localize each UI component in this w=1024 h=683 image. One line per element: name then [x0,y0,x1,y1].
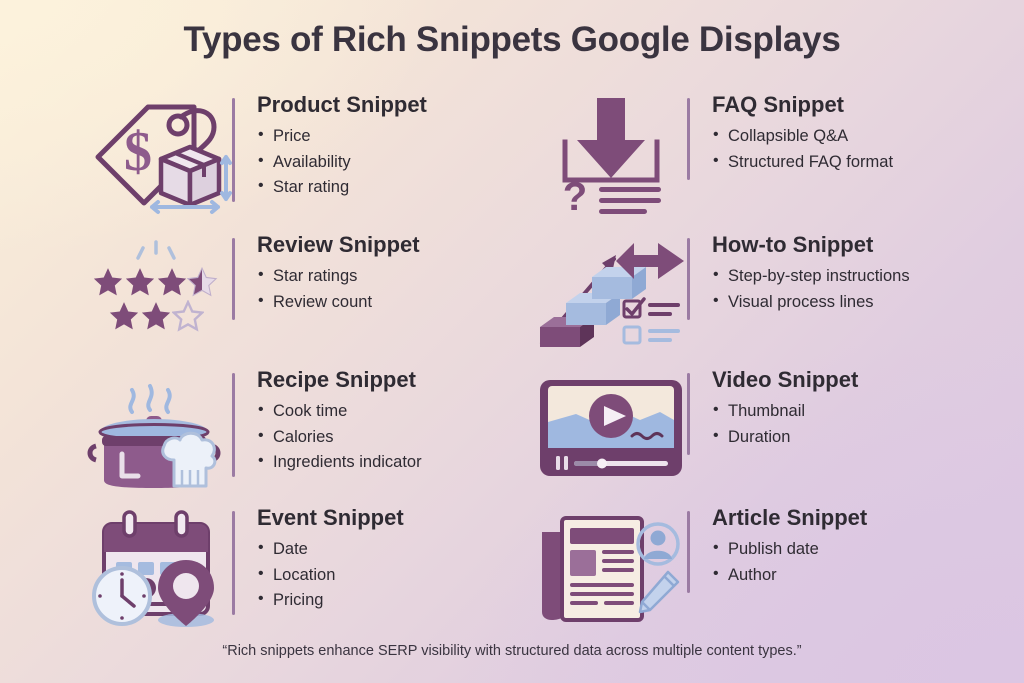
list-item: Author [712,563,867,589]
star-rating-icon [80,232,232,357]
price-tag-box-icon: $ [80,92,232,217]
snippet-heading: Recipe Snippet [257,367,422,392]
stairs-arrow-checklist-icon [535,232,687,357]
snippet-item-article: Article Snippet Publish date Author [535,505,1005,637]
snippet-bullets: Publish date Author [712,537,867,588]
snippet-heading: How-to Snippet [712,232,910,257]
cooking-pot-chef-hat-icon [80,367,232,492]
snippet-heading: Event Snippet [257,505,404,530]
item-divider [687,238,690,320]
list-item: Duration [712,425,858,451]
snippet-item-event: Event Snippet Date Location Pricing [80,505,550,637]
snippet-item-product: $ Product Snippet Price Availability [80,92,550,224]
list-item: Date [257,537,404,563]
calendar-clock-pin-icon [80,505,232,630]
left-column: $ Product Snippet Price Availability [80,92,550,632]
item-divider [687,373,690,455]
item-divider [232,98,235,202]
snippet-bullets: Date Location Pricing [257,537,404,614]
snippet-text-article: Article Snippet Publish date Author [712,505,867,588]
snippet-bullets: Collapsible Q&A Structured FAQ format [712,124,893,175]
snippet-bullets: Cook time Calories Ingredients indicator [257,399,422,476]
item-divider [232,373,235,477]
snippet-item-howto: How-to Snippet Step-by-step instructions… [535,232,1005,364]
svg-text:$: $ [124,121,152,183]
list-item: Step-by-step instructions [712,264,910,290]
list-item: Review count [257,290,420,316]
snippet-bullets: Thumbnail Duration [712,399,858,450]
page-title: Types of Rich Snippets Google Displays [0,20,1024,60]
list-item: Price [257,124,427,150]
snippet-item-recipe: Recipe Snippet Cook time Calories Ingred… [80,367,550,499]
item-divider [687,98,690,180]
snippet-item-review: Review Snippet Star ratings Review count [80,232,550,364]
list-item: Location [257,563,404,589]
list-item: Publish date [712,537,867,563]
snippet-text-howto: How-to Snippet Step-by-step instructions… [712,232,910,315]
list-item: Star ratings [257,264,420,290]
snippet-heading: Review Snippet [257,232,420,257]
snippet-text-product: Product Snippet Price Availability Star … [257,92,427,201]
list-item: Availability [257,150,427,176]
snippet-heading: Article Snippet [712,505,867,530]
svg-text:?: ? [563,175,587,219]
list-item: Ingredients indicator [257,450,422,476]
list-item: Pricing [257,588,404,614]
snippet-grid: $ Product Snippet Price Availability [0,92,1024,632]
list-item: Visual process lines [712,290,910,316]
snippet-bullets: Star ratings Review count [257,264,420,315]
list-item: Calories [257,425,422,451]
list-item: Star rating [257,175,427,201]
collapse-arrow-question-icon: ? [535,92,687,217]
snippet-text-event: Event Snippet Date Location Pricing [257,505,404,614]
snippet-text-video: Video Snippet Thumbnail Duration [712,367,858,450]
snippet-item-faq: ? FAQ Snippet Collapsible Q&A Structured… [535,92,1005,224]
snippet-heading: FAQ Snippet [712,92,893,117]
snippet-item-video: Video Snippet Thumbnail Duration [535,367,1005,499]
video-player-icon [535,367,687,492]
item-divider [232,238,235,320]
infographic-canvas: Types of Rich Snippets Google Displays $ [0,0,1024,683]
snippet-heading: Video Snippet [712,367,858,392]
snippet-bullets: Price Availability Star rating [257,124,427,201]
snippet-text-faq: FAQ Snippet Collapsible Q&A Structured F… [712,92,893,175]
newspaper-author-pencil-icon [535,505,687,630]
item-divider [232,511,235,615]
snippet-text-review: Review Snippet Star ratings Review count [257,232,420,315]
snippet-bullets: Step-by-step instructions Visual process… [712,264,910,315]
list-item: Collapsible Q&A [712,124,893,150]
right-column: ? FAQ Snippet Collapsible Q&A Structured… [535,92,1005,632]
list-item: Thumbnail [712,399,858,425]
item-divider [687,511,690,593]
snippet-text-recipe: Recipe Snippet Cook time Calories Ingred… [257,367,422,476]
footer-caption: “Rich snippets enhance SERP visibility w… [0,643,1024,659]
list-item: Cook time [257,399,422,425]
snippet-heading: Product Snippet [257,92,427,117]
list-item: Structured FAQ format [712,150,893,176]
